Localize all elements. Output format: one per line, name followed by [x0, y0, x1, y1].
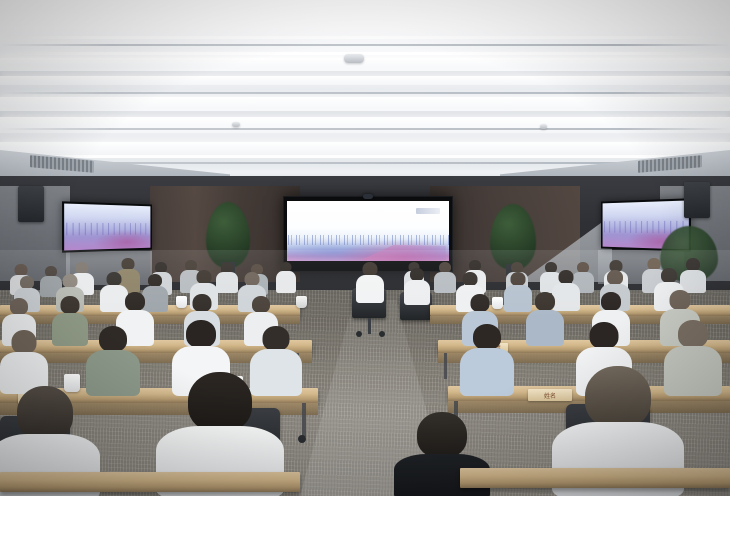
attendee-head [661, 268, 677, 283]
chair-base [368, 318, 371, 334]
left-side-screen[interactable] [62, 201, 152, 252]
ceiling-rail [0, 133, 730, 142]
attendee-head [107, 272, 122, 286]
chair-caster [356, 331, 362, 337]
presenter-torso [356, 275, 384, 303]
ceiling-slat [10, 52, 720, 55]
attendee-head [607, 270, 623, 285]
attendee-head [471, 294, 490, 312]
main-led-screen[interactable]: aerial cityscape panorama [283, 196, 453, 272]
presenter-head [363, 262, 378, 276]
lidded-mug [296, 296, 307, 308]
smoke-detector [232, 122, 240, 127]
attendee-head [463, 272, 478, 286]
attendee-head [473, 324, 501, 350]
attendee-torso [526, 310, 564, 346]
attendee-head [559, 270, 574, 284]
attendee-head [585, 366, 651, 428]
camera-icon [363, 194, 373, 199]
attendee-head [186, 320, 216, 348]
attendee-head [12, 330, 37, 354]
desk-caster [298, 435, 306, 443]
attendee-head [10, 298, 28, 315]
main-screen-content [287, 201, 449, 261]
attendee [52, 296, 88, 344]
ceiling-light-strip [0, 142, 730, 153]
attendee-head [670, 290, 691, 310]
cityscape-skyline [287, 235, 449, 245]
wall-speaker-right [684, 182, 710, 218]
desk-leg [444, 353, 447, 379]
attendee-head [193, 294, 212, 312]
wall-speaker-left [18, 186, 44, 222]
left-screen-content [64, 204, 150, 251]
attendee [404, 268, 430, 304]
attendee-torso [52, 313, 88, 346]
attendee-head [417, 412, 467, 458]
attendee-head [63, 274, 78, 288]
attendee-head [245, 272, 260, 286]
attendee-head [252, 296, 270, 313]
attendee [460, 324, 514, 394]
attendee [434, 262, 456, 292]
ceiling-slat [0, 128, 730, 130]
attendee [86, 326, 140, 394]
attendee-head [511, 272, 526, 286]
ceiling-rail [0, 85, 730, 97]
screenshot-root: aerial cityscape panorama [0, 0, 730, 548]
cityscape-road [362, 245, 446, 260]
attendee-torso [404, 280, 430, 305]
smoke-detector [344, 54, 364, 63]
attendee-torso [434, 272, 456, 293]
attendee [276, 262, 296, 292]
screen-logo [416, 208, 440, 214]
smoke-detector [540, 124, 547, 129]
attendee-head [678, 320, 708, 348]
attendee-head [17, 386, 73, 440]
ceiling-slat [0, 44, 730, 46]
attendee-head [535, 292, 555, 311]
attendee-torso [460, 348, 514, 396]
attendee [0, 330, 48, 392]
attendee-head [263, 326, 290, 351]
attendee-head [125, 292, 145, 311]
attendee-head [99, 326, 127, 352]
attendee-torso [216, 272, 238, 293]
ceiling-light-strip [0, 76, 730, 85]
ceiling-slat [0, 36, 730, 39]
attendee [216, 262, 238, 292]
ceiling-light-strip [0, 58, 730, 71]
attendee-torso [276, 271, 296, 293]
ceiling-light-strip [0, 117, 730, 133]
attendee-head [61, 296, 80, 314]
attendee-head [590, 322, 619, 349]
ceiling-slat [0, 92, 730, 94]
attendee-head [188, 372, 252, 432]
chair-caster [379, 331, 385, 337]
letterbox-bottom [0, 496, 730, 548]
attendee-head [197, 270, 212, 284]
front-row-presenter [356, 262, 384, 302]
cityscape-skyline [64, 223, 150, 235]
desk-leg [302, 403, 306, 437]
ceiling [0, 0, 730, 196]
ceiling-light-strip [0, 97, 730, 111]
attendee-head [601, 292, 621, 311]
ceiling-slat [0, 155, 730, 158]
main-screen-caption: aerial cityscape panorama [284, 197, 285, 198]
training-desk [0, 472, 300, 492]
training-desk [460, 468, 730, 488]
conference-room-photo: aerial cityscape panorama [0, 0, 730, 496]
attendee [526, 292, 564, 344]
